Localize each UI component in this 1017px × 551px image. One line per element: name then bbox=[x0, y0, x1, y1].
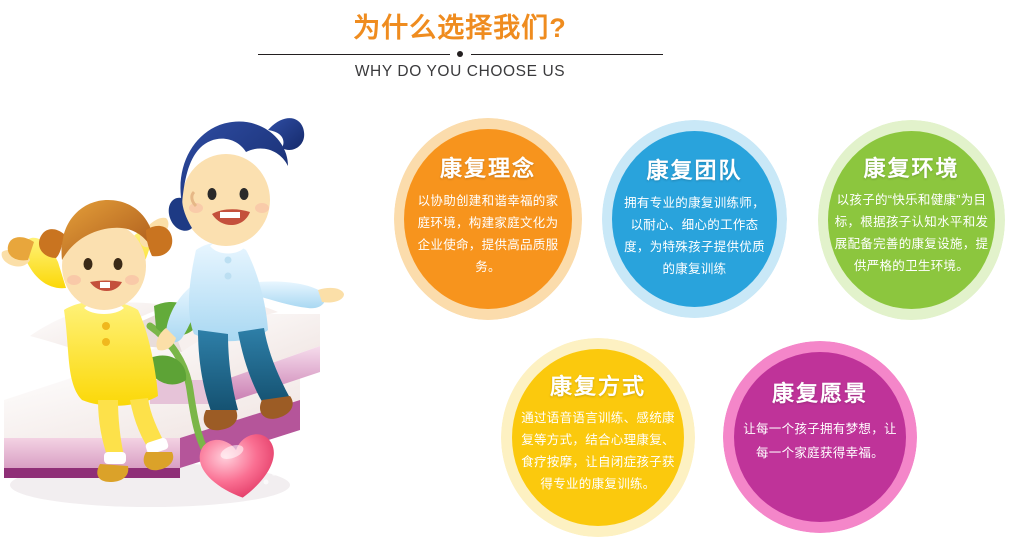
girl-blush-left bbox=[67, 275, 81, 285]
divider-rule-left bbox=[258, 54, 450, 55]
circle-body: 以孩子的“快乐和健康”为目标，根据孩子认知水平和发展配备完善的康复设施，提供严格… bbox=[834, 189, 990, 277]
girl-button bbox=[102, 338, 110, 346]
circle-title: 康复愿景 bbox=[772, 376, 868, 408]
feature-circle-vision[interactable]: 康复愿景 让每一个孩子拥有梦想，让每一个家庭获得幸福。 bbox=[723, 341, 917, 533]
boy-blush bbox=[255, 203, 269, 213]
circle-content: 康复理念 以协助创建和谐幸福的家庭环境，构建家庭文化为企业使命，提供高品质服务。 bbox=[394, 118, 582, 278]
circle-content: 康复环境 以孩子的“快乐和健康”为目标，根据孩子认知水平和发展配备完善的康复设施… bbox=[818, 120, 1005, 277]
girl-sock-left bbox=[104, 452, 126, 464]
circle-content: 康复方式 通过语音语言训练、感统康复等方式，结合心理康复、食疗按摩，让自闭症孩子… bbox=[501, 338, 695, 495]
title-divider bbox=[258, 50, 663, 59]
divider-dot bbox=[457, 51, 463, 57]
circle-content: 康复团队 拥有专业的康复训练师，以耐心、细心的工作态度，为特殊孩子提供优质的康复… bbox=[602, 120, 787, 280]
boy-right-arm bbox=[258, 281, 325, 308]
divider-rule-right bbox=[471, 54, 663, 55]
feature-circle-method[interactable]: 康复方式 通过语音语言训练、感统康复等方式，结合心理康复、食疗按摩，让自闭症孩子… bbox=[501, 338, 695, 537]
feature-circle-environment[interactable]: 康复环境 以孩子的“快乐和健康”为目标，根据孩子认知水平和发展配备完善的康复设施… bbox=[818, 120, 1005, 320]
page-header: 为什么选择我们? WHY DO YOU CHOOSE US bbox=[0, 0, 1017, 100]
page-title: 为什么选择我们? bbox=[0, 12, 920, 44]
circle-body: 让每一个孩子拥有梦想，让每一个家庭获得幸福。 bbox=[737, 417, 903, 465]
circle-content: 康复愿景 让每一个孩子拥有梦想，让每一个家庭获得幸福。 bbox=[723, 341, 917, 465]
girl-blush-right bbox=[125, 275, 139, 285]
circle-title: 康复方式 bbox=[550, 369, 646, 401]
boy-eye-left bbox=[208, 188, 217, 200]
girl-eye-right bbox=[114, 258, 123, 270]
boy-face bbox=[182, 154, 270, 246]
circle-title: 康复环境 bbox=[863, 151, 959, 183]
boy-eye-right bbox=[240, 188, 249, 200]
circle-title: 康复理念 bbox=[440, 151, 536, 183]
boy-teeth bbox=[220, 212, 240, 218]
children-books-illustration bbox=[0, 100, 370, 551]
page-root: 为什么选择我们? WHY DO YOU CHOOSE US 康复理念 以协助创建… bbox=[0, 0, 1017, 551]
boy-button bbox=[225, 257, 232, 264]
page-subtitle: WHY DO YOU CHOOSE US bbox=[0, 63, 920, 81]
girl-button bbox=[102, 322, 110, 330]
girl-pigtail-right bbox=[146, 226, 172, 256]
circle-body: 通过语音语言训练、感统康复等方式，结合心理康复、食疗按摩，让自闭症孩子获得专业的… bbox=[519, 407, 677, 495]
circle-body: 拥有专业的康复训练师，以耐心、细心的工作态度，为特殊孩子提供优质的康复训练 bbox=[620, 192, 770, 280]
feature-circle-team[interactable]: 康复团队 拥有专业的康复训练师，以耐心、细心的工作态度，为特殊孩子提供优质的康复… bbox=[602, 120, 787, 318]
girl-teeth bbox=[100, 282, 110, 288]
girl-dress bbox=[64, 301, 158, 406]
girl-eye-left bbox=[84, 258, 93, 270]
circle-body: 以协助创建和谐幸福的家庭环境，构建家庭文化为企业使命，提供高品质服务。 bbox=[412, 190, 564, 278]
circle-title: 康复团队 bbox=[646, 153, 742, 185]
boy-button bbox=[225, 273, 232, 280]
boy-right-hand bbox=[318, 288, 344, 303]
feature-circle-concept[interactable]: 康复理念 以协助创建和谐幸福的家庭环境，构建家庭文化为企业使命，提供高品质服务。 bbox=[394, 118, 582, 320]
